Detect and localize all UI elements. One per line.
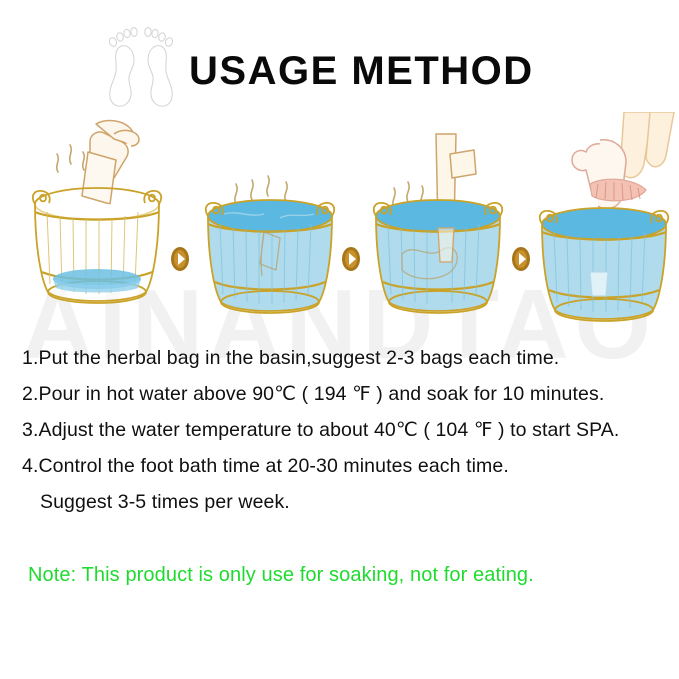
footprints-icon — [96, 24, 186, 110]
instruction-step: Suggest 3-5 times per week. — [22, 484, 667, 520]
instruction-step: 3.Adjust the water temperature to about … — [22, 412, 667, 448]
step-3-illustration — [358, 112, 518, 334]
instruction-step: 4.Control the foot bath time at 20-30 mi… — [22, 448, 667, 484]
illustration-strip — [0, 112, 679, 334]
note-text: Note: This product is only use for soaki… — [28, 560, 534, 590]
instruction-step: 2.Pour in hot water above 90℃ ( 194 ℉ ) … — [22, 376, 667, 412]
instruction-step: 1.Put the herbal bag in the basin,sugges… — [22, 340, 667, 376]
play-arrow-icon — [341, 246, 361, 272]
step-4-illustration — [528, 112, 679, 334]
play-arrow-icon — [170, 246, 190, 272]
instruction-list: 1.Put the herbal bag in the basin,sugges… — [22, 340, 667, 520]
header: USAGE METHOD — [0, 0, 679, 118]
step-2-illustration — [190, 112, 350, 334]
play-arrow-icon — [511, 246, 531, 272]
page-title: USAGE METHOD — [189, 49, 534, 94]
step-1-illustration — [18, 112, 178, 334]
